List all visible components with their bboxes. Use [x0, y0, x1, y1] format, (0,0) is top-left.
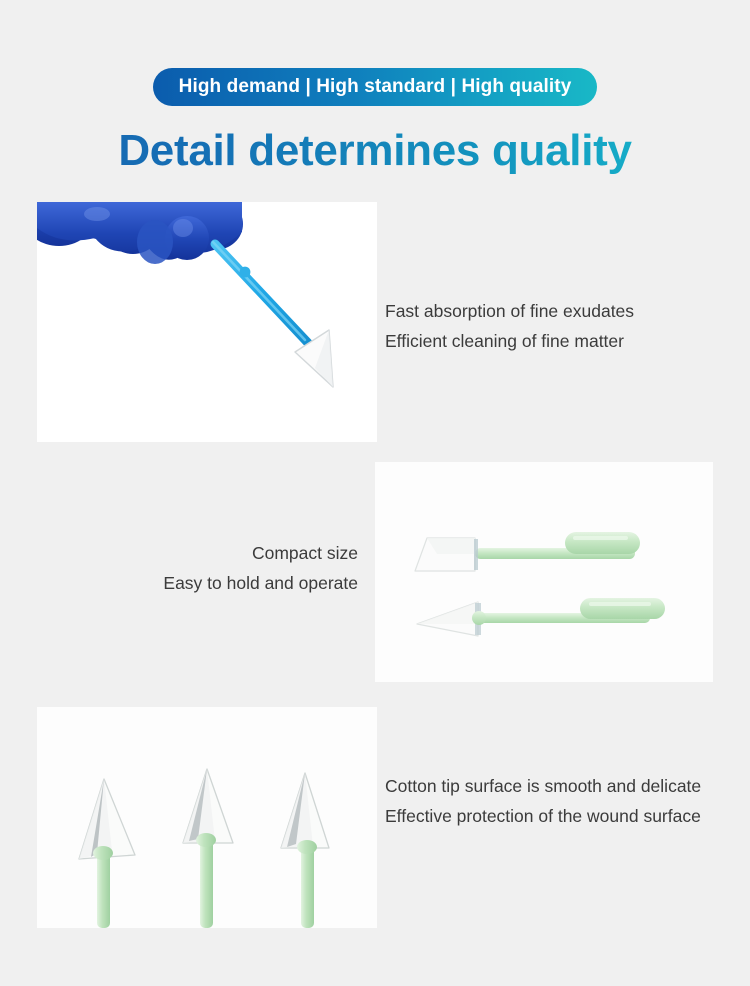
- feature-3-line-1: Cotton tip surface is smooth and delicat…: [385, 771, 705, 801]
- feature-2-line-1: Compact size: [100, 538, 358, 568]
- feature-1-line-1: Fast absorption of fine exudates: [385, 296, 715, 326]
- page-title: Detail determines quality: [0, 124, 750, 178]
- feature-copy-1: Fast absorption of fine exudates Efficie…: [385, 296, 715, 356]
- product-photo-three-tips: [37, 707, 377, 928]
- badge-container: High demand | High standard | High quali…: [0, 68, 750, 106]
- tagline-badge: High demand | High standard | High quali…: [153, 68, 598, 106]
- feature-3-line-2: Effective protection of the wound surfac…: [385, 801, 705, 831]
- feature-2-line-2: Easy to hold and operate: [100, 568, 358, 598]
- feature-copy-2: Compact size Easy to hold and operate: [100, 538, 358, 598]
- feature-1-line-2: Efficient cleaning of fine matter: [385, 326, 715, 356]
- product-photo-gloved-hand: [37, 202, 377, 442]
- product-photo-two-swabs: [375, 462, 713, 682]
- feature-copy-3: Cotton tip surface is smooth and delicat…: [385, 771, 705, 831]
